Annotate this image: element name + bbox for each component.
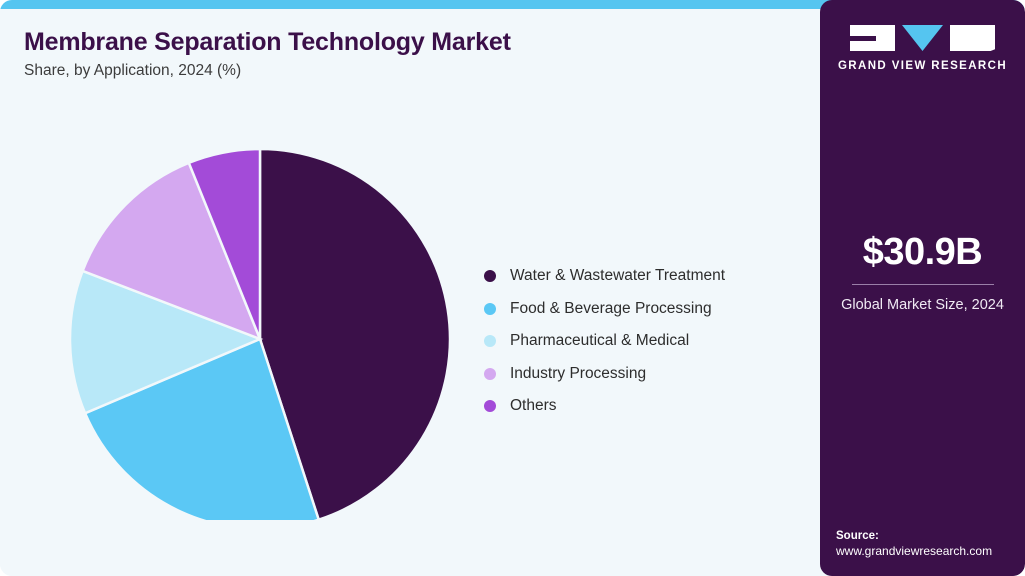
brand-logo: GRAND VIEW RESEARCH <box>820 25 1025 72</box>
legend-item[interactable]: Industry Processing <box>484 358 784 391</box>
logo-r-icon <box>950 25 995 51</box>
pie-slice-group <box>70 149 450 520</box>
logo-wordmark: GRAND VIEW RESEARCH <box>820 60 1025 72</box>
source-label: Source: <box>836 530 1025 542</box>
legend-swatch-icon <box>484 270 496 282</box>
legend-swatch-icon <box>484 303 496 315</box>
chart-main-area: Membrane Separation Technology Market Sh… <box>0 9 820 576</box>
kpi-value: $30.9B <box>820 233 1025 271</box>
source-block: Source: www.grandviewresearch.com <box>836 530 1025 558</box>
legend-item[interactable]: Food & Beverage Processing <box>484 293 784 326</box>
logo-g-icon <box>850 25 895 51</box>
legend-swatch-icon <box>484 368 496 380</box>
legend-item[interactable]: Others <box>484 390 784 423</box>
kpi-caption: Global Market Size, 2024 <box>820 296 1025 316</box>
legend-label: Industry Processing <box>510 365 646 383</box>
legend-swatch-icon <box>484 335 496 347</box>
chart-legend: Water & Wastewater TreatmentFood & Bever… <box>484 260 784 423</box>
pie-chart <box>60 130 450 520</box>
legend-swatch-icon <box>484 400 496 412</box>
legend-label: Others <box>510 397 557 415</box>
logo-v-triangle-icon <box>900 25 945 51</box>
logo-marks <box>820 25 1025 51</box>
kpi-divider <box>852 284 994 285</box>
legend-label: Pharmaceutical & Medical <box>510 332 689 350</box>
legend-item[interactable]: Water & Wastewater Treatment <box>484 260 784 293</box>
legend-label: Water & Wastewater Treatment <box>510 267 725 285</box>
legend-item[interactable]: Pharmaceutical & Medical <box>484 325 784 358</box>
legend-label: Food & Beverage Processing <box>510 300 712 318</box>
brand-sidebar: GRAND VIEW RESEARCH $30.9B Global Market… <box>820 0 1025 576</box>
chart-card: Membrane Separation Technology Market Sh… <box>0 0 1025 576</box>
market-size-kpi: $30.9B Global Market Size, 2024 <box>820 233 1025 316</box>
source-url[interactable]: www.grandviewresearch.com <box>836 544 1025 558</box>
